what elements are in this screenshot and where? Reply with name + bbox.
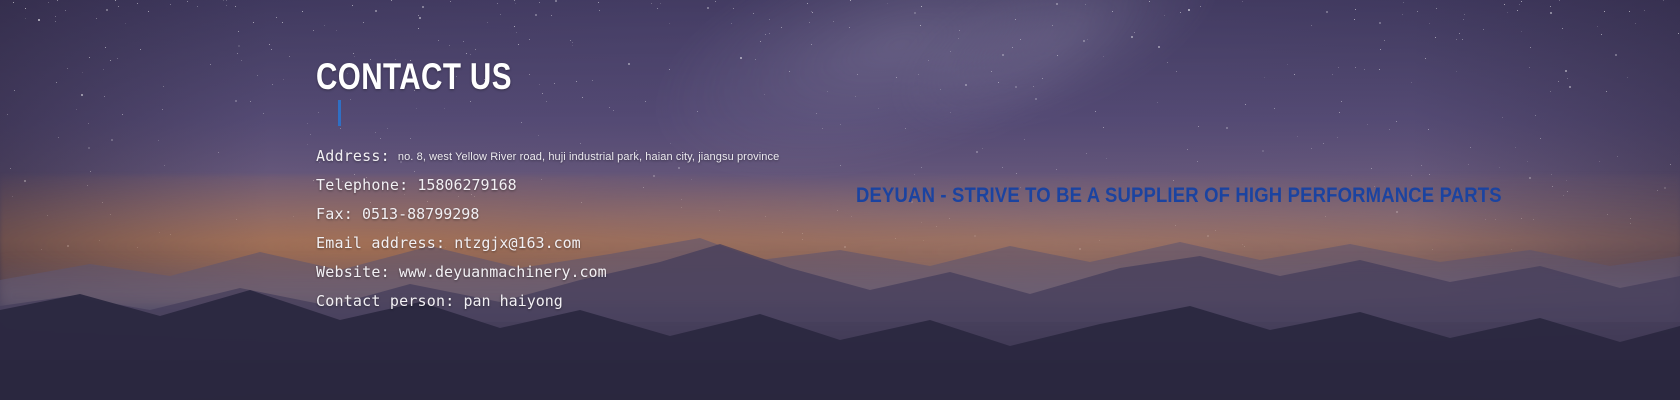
- telephone-value[interactable]: 15806279168: [417, 176, 516, 194]
- contact-person-value: pan haiyong: [464, 292, 563, 310]
- fax-label: Fax:: [316, 205, 353, 223]
- contact-person-label: Contact person:: [316, 292, 454, 310]
- telephone-label: Telephone:: [316, 176, 408, 194]
- contact-row-email: Email address: ntzgjx@163.com: [316, 229, 779, 258]
- contact-row-address: Address:no. 8, west Yellow River road, h…: [316, 142, 779, 171]
- contact-row-contact-person: Contact person: pan haiyong: [316, 287, 779, 316]
- company-slogan: DEYUAN - STRIVE TO BE A SUPPLIER OF HIGH…: [856, 184, 1502, 208]
- address-value: no. 8, west Yellow River road, huji indu…: [398, 151, 779, 163]
- contact-details-list: Address:no. 8, west Yellow River road, h…: [316, 142, 779, 316]
- address-label: Address:: [316, 147, 390, 165]
- page-title: CONTACT US: [316, 58, 512, 95]
- contact-row-telephone: Telephone: 15806279168: [316, 171, 779, 200]
- contact-banner: CONTACT US Address:no. 8, west Yellow Ri…: [0, 0, 1680, 400]
- email-label: Email address:: [316, 234, 445, 252]
- banner-content: CONTACT US Address:no. 8, west Yellow Ri…: [0, 0, 1680, 400]
- contact-row-website: Website: www.deyuanmachinery.com: [316, 258, 779, 287]
- accent-bar: [338, 100, 341, 126]
- contact-row-fax: Fax: 0513-88799298: [316, 200, 779, 229]
- website-label: Website:: [316, 263, 390, 281]
- email-value[interactable]: ntzgjx@163.com: [454, 234, 580, 252]
- website-value[interactable]: www.deyuanmachinery.com: [399, 263, 607, 281]
- fax-value: 0513-88799298: [362, 205, 479, 223]
